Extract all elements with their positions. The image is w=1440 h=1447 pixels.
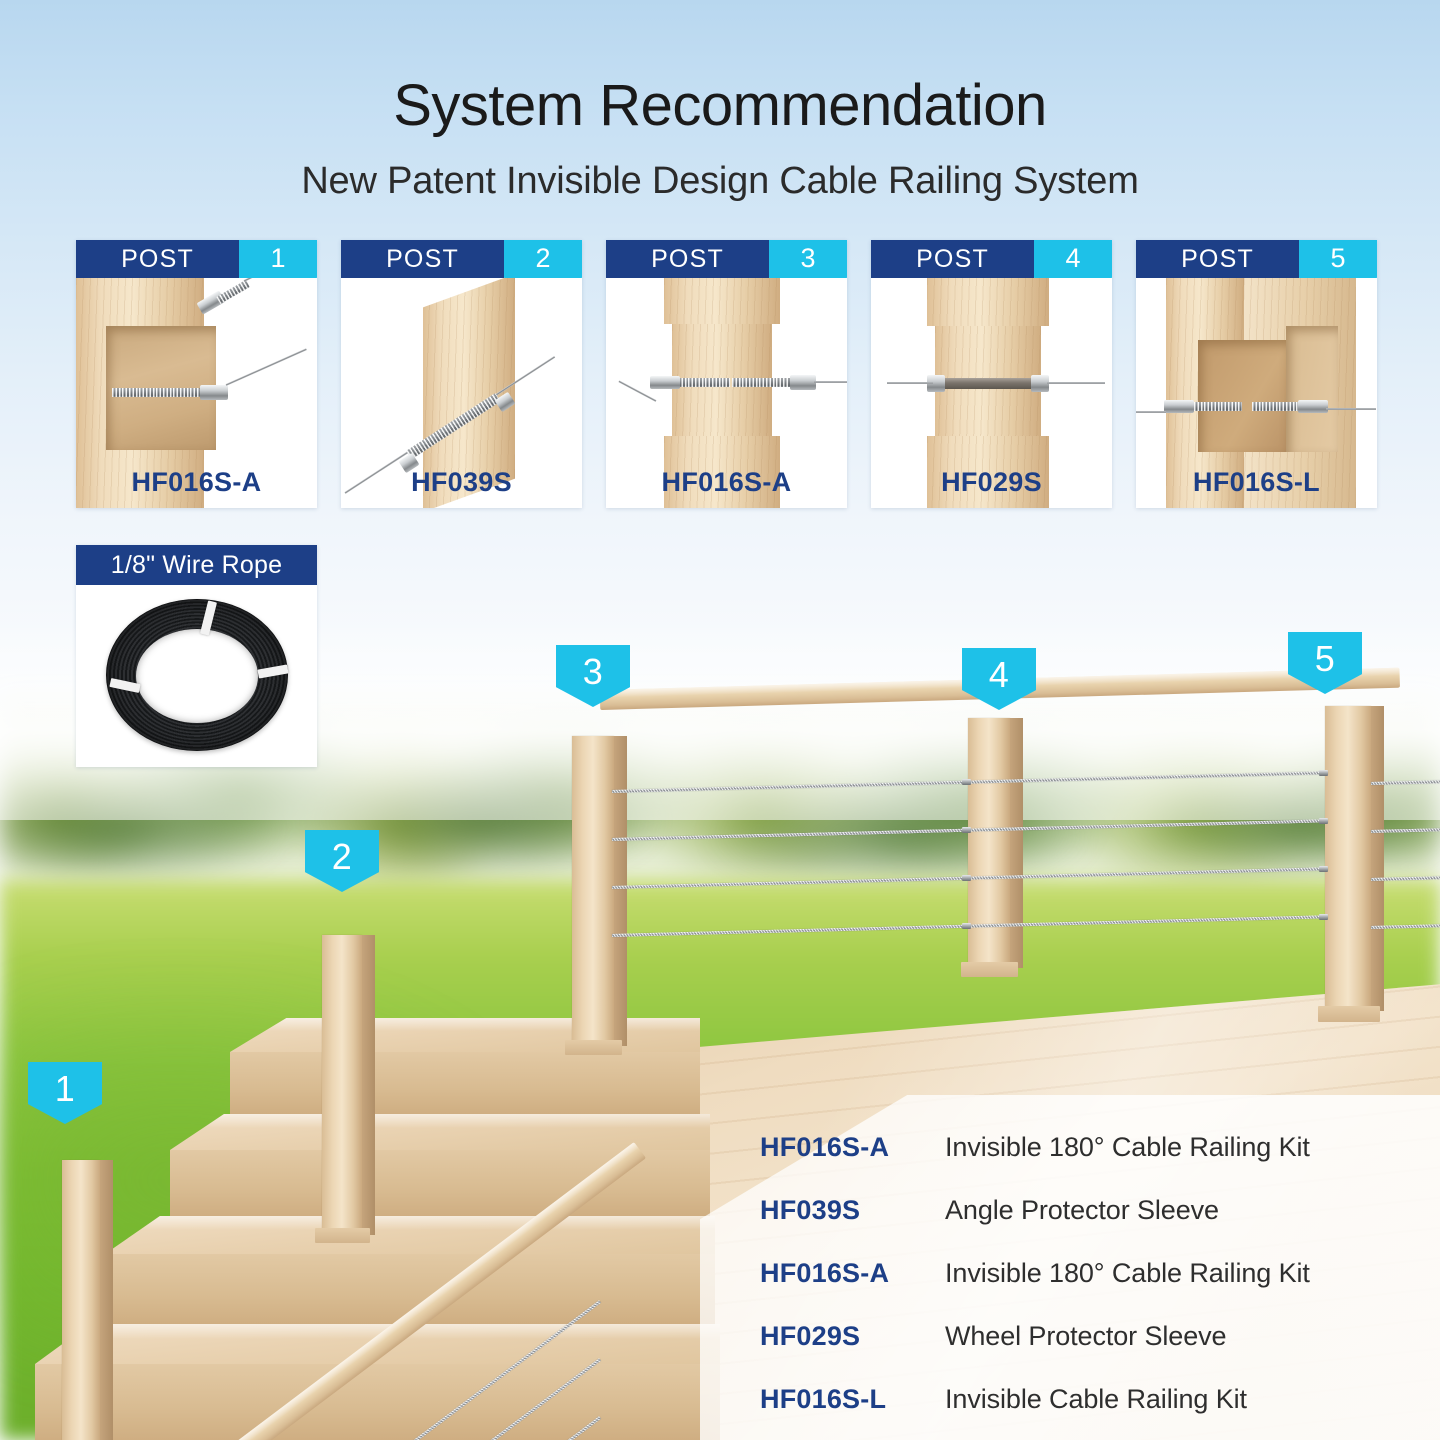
post-card-5-number: 5 bbox=[1330, 240, 1345, 274]
post-middle-base bbox=[961, 962, 1018, 977]
post-card-4-badge-label: POST bbox=[916, 245, 989, 274]
post-card-5-badge: POST bbox=[1136, 240, 1299, 278]
post-card-1-sku: HF016S-A bbox=[76, 467, 317, 498]
post-card-5-sku: HF016S-L bbox=[1136, 467, 1377, 498]
cable-fitting bbox=[962, 779, 971, 785]
post-card-2-number: 2 bbox=[535, 240, 550, 274]
legend-row-sku: HF029S bbox=[760, 1321, 945, 1352]
post-card-4-header: POST 4 bbox=[871, 240, 1112, 278]
post-card-1[interactable]: POST 1 HF016S-A bbox=[76, 240, 317, 508]
wire-rope-card-header: 1/8" Wire Rope bbox=[76, 545, 317, 585]
callout-pin-3-number: 3 bbox=[583, 645, 604, 690]
stair-riser-4 bbox=[35, 1364, 720, 1440]
post-card-4-badge: POST bbox=[871, 240, 1034, 278]
legend-row-description: Wheel Protector Sleeve bbox=[945, 1321, 1226, 1352]
post-card-1-badge: POST bbox=[76, 240, 239, 278]
post-card-2-sku: HF039S bbox=[341, 467, 582, 498]
legend-row-sku: HF016S-L bbox=[760, 1384, 945, 1415]
wire-rope-illustration bbox=[76, 585, 317, 767]
post-card-3-number: 3 bbox=[800, 240, 815, 274]
post-card-2[interactable]: POST 2 HF039S bbox=[341, 240, 582, 508]
cable-fitting bbox=[1319, 818, 1328, 824]
post-middle bbox=[968, 718, 1010, 968]
wire-rope-coil-center bbox=[136, 629, 258, 723]
legend-row-sku: HF016S-A bbox=[760, 1132, 945, 1163]
cable-fitting bbox=[1319, 866, 1328, 872]
wire-rope-card[interactable]: 1/8" Wire Rope bbox=[76, 545, 317, 767]
legend-row: HF029S Wheel Protector Sleeve bbox=[760, 1321, 1420, 1384]
legend-panel: HF016S-A Invisible 180° Cable Railing Ki… bbox=[760, 1132, 1420, 1447]
legend-row-description: Invisible 180° Cable Railing Kit bbox=[945, 1258, 1310, 1289]
legend-row: HF016S-A Invisible 180° Cable Railing Ki… bbox=[760, 1132, 1420, 1195]
post-card-1-badge-label: POST bbox=[121, 245, 194, 274]
legend-row-description: Invisible Cable Railing Kit bbox=[945, 1384, 1247, 1415]
cable-fitting bbox=[962, 923, 971, 929]
post-stair-mid-base bbox=[315, 1228, 370, 1243]
post-corner-base bbox=[1318, 1006, 1380, 1022]
post-corner bbox=[1325, 706, 1371, 1011]
legend-row: HF039S Angle Protector Sleeve bbox=[760, 1195, 1420, 1258]
legend-row-sku: HF039S bbox=[760, 1195, 945, 1226]
post-card-2-badge: POST bbox=[341, 240, 504, 278]
post-card-2-badge-label: POST bbox=[386, 245, 459, 274]
post-card-3-badge-label: POST bbox=[651, 245, 724, 274]
post-card-4-number: 4 bbox=[1065, 240, 1080, 274]
page-subtitle: New Patent Invisible Design Cable Railin… bbox=[0, 160, 1440, 203]
post-card-3-header: POST 3 bbox=[606, 240, 847, 278]
post-card-3-badge: POST bbox=[606, 240, 769, 278]
cable-fitting bbox=[1319, 770, 1328, 776]
post-card-row: POST 1 HF016S-A POST 2 bbox=[76, 240, 1364, 510]
post-card-3[interactable]: POST 3 HF016S-A bbox=[606, 240, 847, 508]
legend-row-description: Angle Protector Sleeve bbox=[945, 1195, 1219, 1226]
stair-tread-3 bbox=[105, 1216, 715, 1254]
legend-row: HF016S-A Invisible 180° Cable Railing Ki… bbox=[760, 1258, 1420, 1321]
stair-riser-1 bbox=[230, 1052, 700, 1114]
stair-tread-1 bbox=[230, 1018, 700, 1052]
callout-pin-5-number: 5 bbox=[1315, 632, 1336, 677]
wire-rope-card-title: 1/8" Wire Rope bbox=[111, 551, 282, 580]
post-card-1-number: 1 bbox=[270, 240, 285, 274]
post-stair-mid bbox=[322, 935, 362, 1235]
cable-fitting bbox=[1319, 914, 1328, 920]
post-card-3-sku: HF016S-A bbox=[606, 467, 847, 498]
page-title: System Recommendation bbox=[0, 72, 1440, 139]
post-stair-top-base bbox=[565, 1040, 622, 1055]
post-card-5[interactable]: POST 5 HF016S-L bbox=[1136, 240, 1377, 508]
post-card-4-sku: HF029S bbox=[871, 467, 1112, 498]
legend-row: HF016S-L Invisible Cable Railing Kit bbox=[760, 1384, 1420, 1447]
legend-row-description: Invisible 180° Cable Railing Kit bbox=[945, 1132, 1310, 1163]
post-stair-top bbox=[572, 736, 614, 1046]
legend-row-sku: HF016S-A bbox=[760, 1258, 945, 1289]
cable-fitting bbox=[962, 875, 971, 881]
post-stair-bottom bbox=[62, 1160, 100, 1440]
post-card-5-badge-label: POST bbox=[1181, 245, 1254, 274]
post-card-5-header: POST 5 bbox=[1136, 240, 1377, 278]
cable-fitting bbox=[962, 827, 971, 833]
callout-pin-4-number: 4 bbox=[989, 648, 1010, 693]
callout-pin-2-number: 2 bbox=[332, 830, 353, 875]
callout-pin-1-number: 1 bbox=[55, 1062, 76, 1107]
post-card-4[interactable]: POST 4 HF029S bbox=[871, 240, 1112, 508]
post-card-1-header: POST 1 bbox=[76, 240, 317, 278]
post-card-2-header: POST 2 bbox=[341, 240, 582, 278]
